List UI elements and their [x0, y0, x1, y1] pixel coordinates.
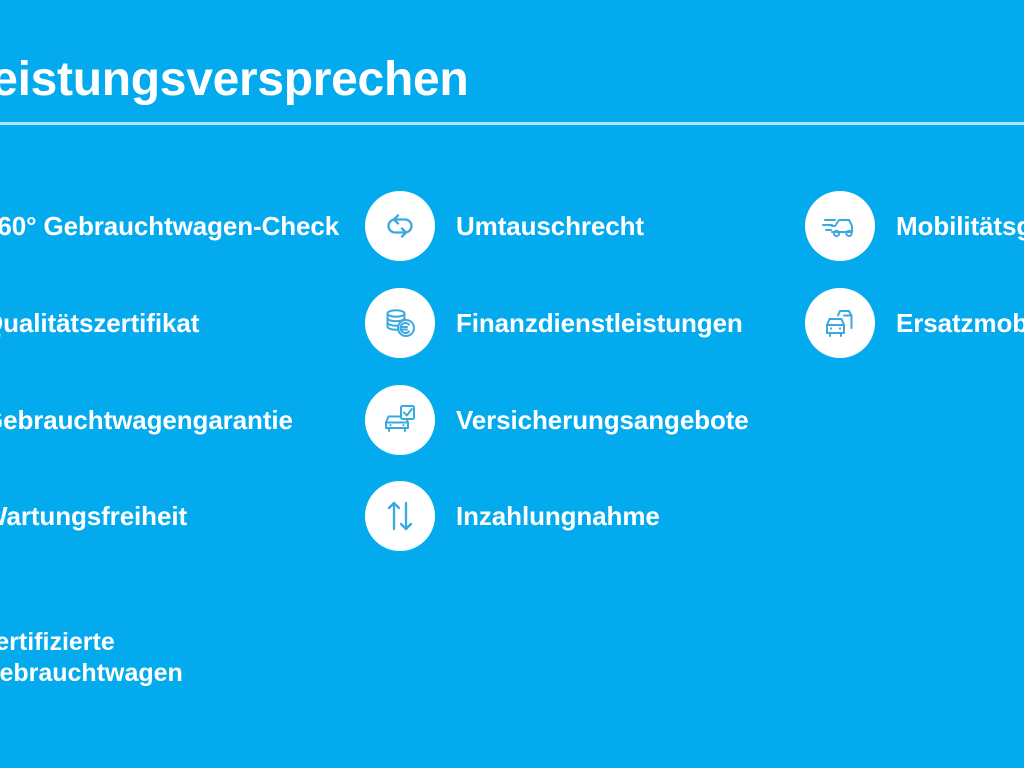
service-item-label: Ersatzmob	[896, 308, 1024, 338]
logo-line-2: Gebrauchtwagen	[0, 658, 183, 689]
service-item-label: Wartungsfreiheit	[0, 501, 187, 531]
header-divider	[0, 122, 1024, 125]
certified-used-cars-logo: Zertifizierte Gebrauchtwagen	[0, 622, 308, 694]
car-checklist-icon	[365, 385, 435, 455]
service-item-label: Versicherungsangebote	[456, 405, 749, 435]
service-item[interactable]: Qualitätszertifikat	[0, 286, 199, 360]
service-item[interactable]: Inzahlungnahme	[365, 479, 660, 553]
banner-header: ere Leistungsversprechen	[0, 0, 1024, 128]
speeding-car-icon	[805, 191, 875, 261]
service-item-label: Finanzdienstleistungen	[456, 308, 743, 338]
service-item-label: Inzahlungnahme	[456, 501, 660, 531]
service-item-label: Gebrauchtwagengarantie	[0, 405, 293, 435]
service-item[interactable]: Wartungsfreiheit	[0, 479, 187, 553]
page-title: ere Leistungsversprechen	[0, 52, 468, 108]
certified-used-cars-label: Zertifizierte Gebrauchtwagen	[0, 627, 183, 689]
service-item[interactable]: Versicherungsangebote	[365, 383, 749, 457]
service-item[interactable]: Ersatzmob	[805, 286, 1024, 360]
service-item-label: Mobilitätsg	[896, 211, 1024, 241]
service-promises-banner: ere Leistungsversprechen 360° Gebrauchtw…	[0, 0, 1024, 768]
service-item[interactable]: 360° Gebrauchtwagen-Check	[0, 189, 339, 263]
two-cars-icon	[805, 288, 875, 358]
service-item[interactable]: Umtauschrecht	[365, 189, 644, 263]
coins-euro-icon	[365, 288, 435, 358]
up-down-arrows-icon	[365, 481, 435, 551]
service-item-label: 360° Gebrauchtwagen-Check	[0, 211, 339, 241]
service-item[interactable]: Mobilitätsg	[805, 189, 1024, 263]
logo-line-1: Zertifizierte	[0, 627, 183, 658]
service-item-label: Qualitätszertifikat	[0, 308, 199, 338]
exchange-arrows-icon	[365, 191, 435, 261]
service-item[interactable]: Gebrauchtwagengarantie	[0, 383, 293, 457]
service-item-label: Umtauschrecht	[456, 211, 644, 241]
service-item[interactable]: Finanzdienstleistungen	[365, 286, 743, 360]
